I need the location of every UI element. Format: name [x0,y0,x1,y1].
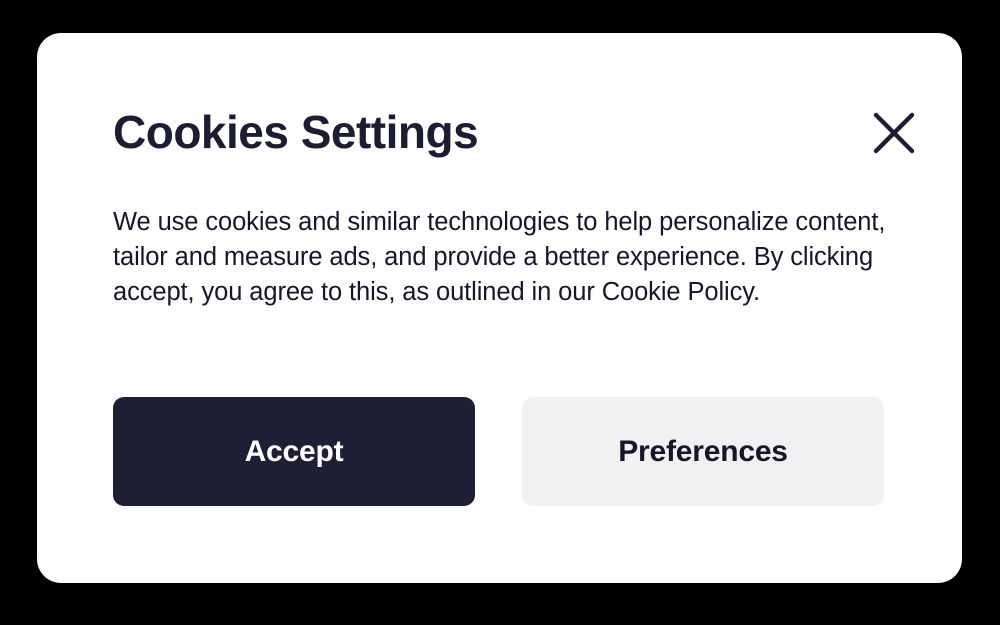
dialog-description: We use cookies and similar technologies … [113,205,896,310]
screen-background: Cookies Settings We use cookies and simi… [0,0,1000,625]
preferences-button[interactable]: Preferences [522,397,884,506]
cookies-settings-dialog: Cookies Settings We use cookies and simi… [37,33,962,583]
close-button[interactable] [868,107,920,159]
page-title: Cookies Settings [113,103,478,161]
dialog-body: We use cookies and similar technologies … [113,205,896,310]
dialog-header: Cookies Settings [113,103,920,165]
close-icon [873,112,915,154]
accept-button[interactable]: Accept [113,397,475,506]
dialog-actions: Accept Preferences [113,397,884,506]
